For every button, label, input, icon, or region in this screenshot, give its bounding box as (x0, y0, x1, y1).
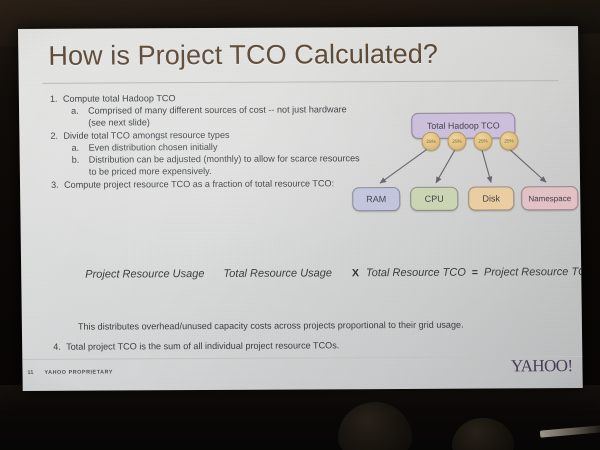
footer-classification: YAHOO PROPRIETARY (44, 369, 113, 375)
photo-scene: How is Project TCO Calculated? 1. Comput… (0, 0, 600, 450)
projection-screen: How is Project TCO Calculated? 1. Comput… (18, 26, 583, 391)
outline-number: b. (72, 153, 89, 177)
slide-outline: 1. Compute total Hadoop TCO a. Comprised… (45, 91, 366, 191)
formula-note: This distributes overhead/unused capacit… (78, 320, 464, 332)
formula-multiplicand: Total Resource TCO (366, 267, 466, 280)
title-divider (43, 80, 559, 84)
tco-distribution-diagram: Total Hadoop TCO 25% 25% 25% 25% RAM CPU… (349, 112, 579, 238)
outline-item-3: 3. Compute project resource TCO as a fra… (46, 177, 366, 191)
formula-fraction: Project Resource Usage Total Resource Us… (77, 267, 340, 280)
outline-number: 3. (46, 179, 64, 191)
formula-multiply-symbol: X (352, 267, 359, 279)
formula-result: Project Resource TCO (484, 266, 583, 279)
outline-number: 4. (48, 341, 66, 353)
outline-item-2b: b. Distribution can be adjusted (monthly… (72, 152, 366, 178)
outline-number: 2. (45, 129, 63, 141)
diagram-node-ram: RAM (352, 187, 400, 211)
presentation-slide: How is Project TCO Calculated? 1. Comput… (18, 26, 583, 391)
diagram-split-badge-cpu: 25% (447, 132, 466, 151)
outline-number: a. (71, 105, 88, 129)
diagram-node-cpu: CPU (410, 187, 458, 211)
formula-equals-symbol: = (472, 267, 478, 279)
formula-numerator: Project Resource Usage (77, 268, 212, 283)
slide-title: How is Project TCO Calculated? (48, 40, 438, 70)
outline-text: Compute project resource TCO as a fracti… (64, 177, 366, 191)
diagram-node-disk: Disk (468, 186, 514, 210)
diagram-node-namespace: Namespace (521, 186, 578, 210)
outline-item-4: 4.Total project TCO is the sum of all in… (48, 339, 368, 353)
outline-number: a. (71, 141, 88, 153)
footer-divider (22, 356, 582, 360)
outline-text: Comprised of many different sources of c… (88, 103, 365, 129)
outline-number: 1. (45, 93, 63, 105)
outline-text: Distribution can be adjusted (monthly) t… (89, 152, 366, 178)
diagram-split-badge-ram: 25% (421, 132, 440, 151)
diagram-split-badge-namespace: 25% (499, 131, 518, 150)
outline-text: Total project TCO is the sum of all indi… (66, 340, 339, 351)
tco-formula: Project Resource Usage Total Resource Us… (77, 266, 583, 281)
yahoo-logo: YAHOO! (511, 356, 573, 376)
footer-page-number: 11 (27, 370, 33, 376)
formula-denominator: Total Resource Usage (215, 265, 340, 280)
outline-item-1a: a. Comprised of many different sources o… (71, 103, 365, 129)
diagram-split-badge-disk: 25% (473, 132, 492, 151)
